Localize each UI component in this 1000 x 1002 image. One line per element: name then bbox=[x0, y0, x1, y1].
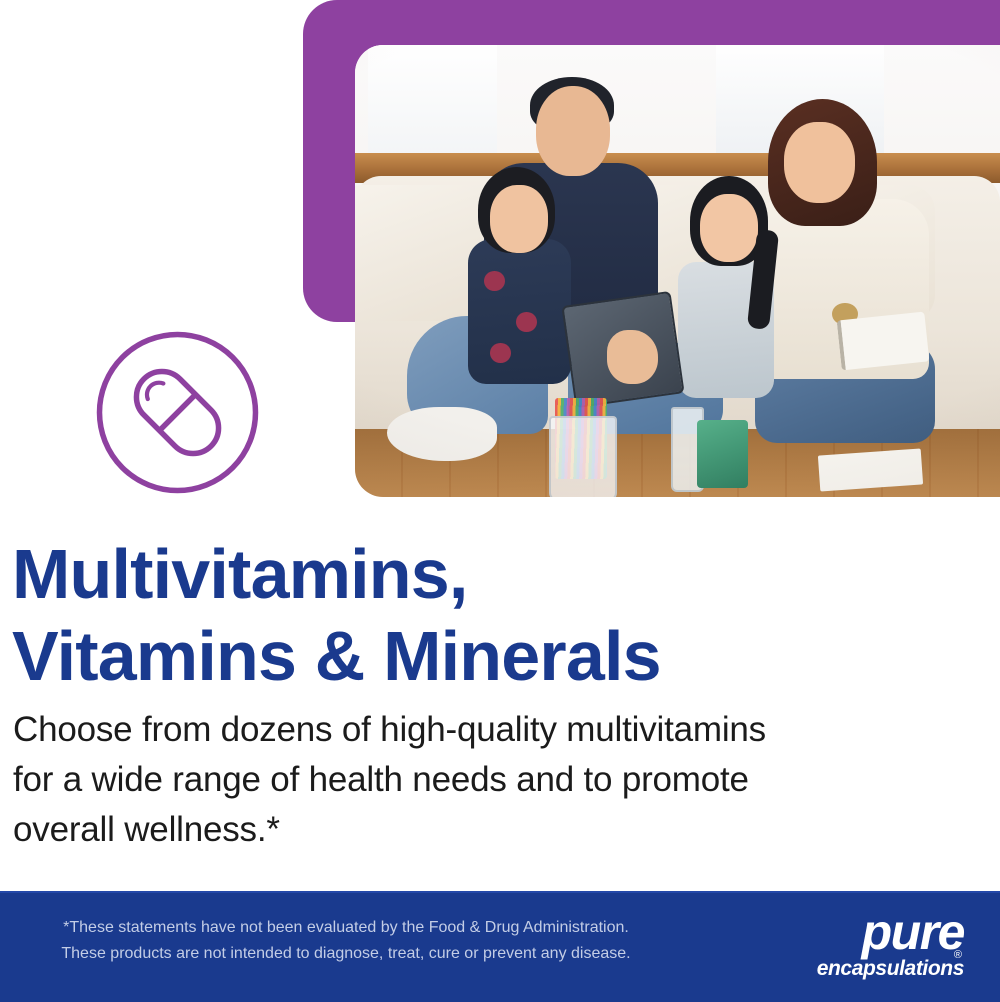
fda-disclaimer: *These statements have not been evaluate… bbox=[36, 915, 656, 967]
brand-tagline: encapsulations bbox=[744, 957, 964, 981]
brand-name: pure bbox=[744, 907, 964, 957]
page-subcopy: Choose from dozens of high-quality multi… bbox=[13, 705, 903, 855]
registered-trademark-icon: ® bbox=[954, 950, 962, 961]
brand-logo[interactable]: pure encapsulations ® bbox=[744, 907, 964, 987]
page-title: Multivitamins, Vitamins & Minerals bbox=[12, 533, 892, 697]
promotional-banner: Multivitamins, Vitamins & Minerals Choos… bbox=[0, 0, 1000, 1000]
photo-vignette bbox=[355, 45, 1000, 497]
capsule-icon bbox=[95, 330, 260, 495]
family-photo bbox=[355, 45, 1000, 497]
footer-bar: *These statements have not been evaluate… bbox=[0, 891, 1000, 1002]
